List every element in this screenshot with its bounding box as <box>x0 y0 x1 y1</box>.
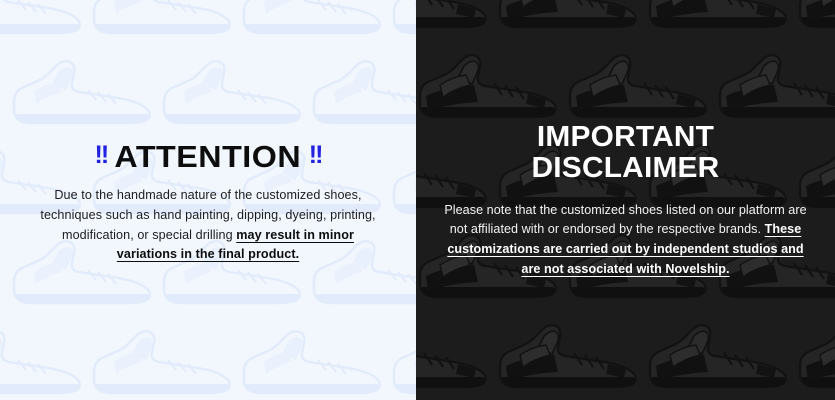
disclaimer-heading-line-2: DISCLAIMER <box>439 153 813 184</box>
disclaimer-content: IMPORTANT DISCLAIMER Please note that th… <box>416 122 835 280</box>
exclamation-left-icon: !! <box>95 143 108 168</box>
attention-heading: !! ATTENTION !! <box>34 141 382 172</box>
disclaimer-banner: !! ATTENTION !! Due to the handmade natu… <box>0 0 835 400</box>
disclaimer-heading: IMPORTANT DISCLAIMER <box>439 122 813 185</box>
disclaimer-body-plain: Please note that the customized shoes li… <box>444 203 806 237</box>
disclaimer-heading-line-1: IMPORTANT <box>439 122 813 153</box>
exclamation-right-icon: !! <box>309 143 322 168</box>
attention-body: Due to the handmade nature of the custom… <box>34 186 382 266</box>
attention-heading-text: ATTENTION <box>115 141 302 172</box>
disclaimer-body: Please note that the customized shoes li… <box>444 201 807 281</box>
attention-panel: !! ATTENTION !! Due to the handmade natu… <box>0 0 416 400</box>
attention-content: !! ATTENTION !! Due to the handmade natu… <box>0 141 416 266</box>
disclaimer-panel: IMPORTANT DISCLAIMER Please note that th… <box>416 0 835 400</box>
